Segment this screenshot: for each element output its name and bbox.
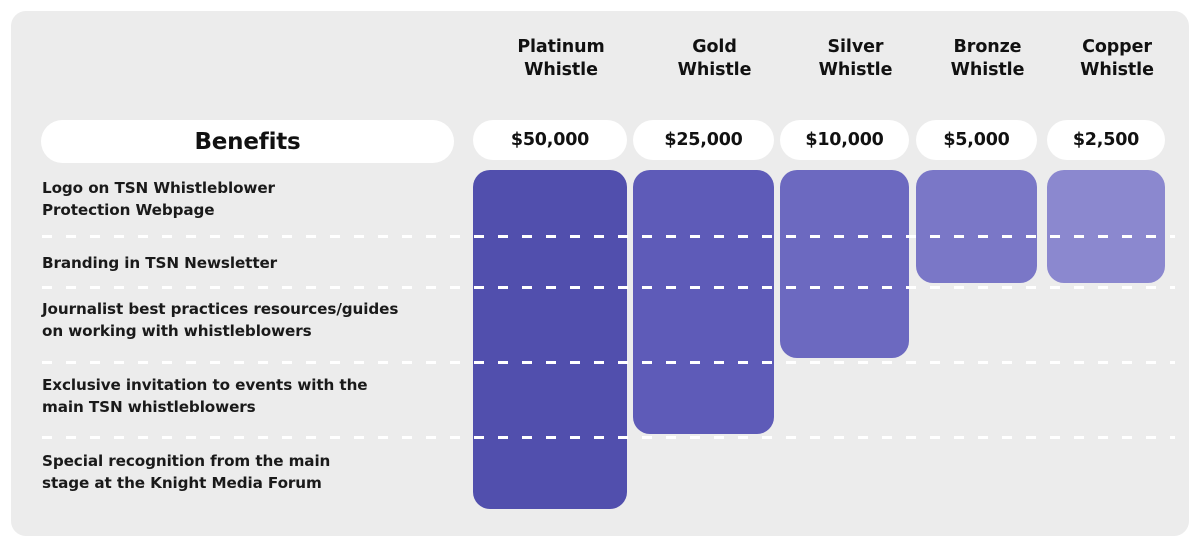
tier-header-platinum-line2: Whistle bbox=[484, 59, 638, 82]
tier-header-bronze: Bronze Whistle bbox=[927, 36, 1048, 82]
tier-header-bronze-line1: Bronze bbox=[954, 37, 1022, 57]
price-pill-platinum: $50,000 bbox=[473, 120, 627, 160]
price-pill-bronze: $5,000 bbox=[916, 120, 1037, 160]
benefit-row-4-line1: Exclusive invitation to events with the bbox=[42, 376, 368, 394]
tier-header-silver-line2: Whistle bbox=[791, 59, 920, 82]
tier-bar-silver bbox=[780, 170, 909, 358]
sponsorship-tier-panel: Platinum Whistle Gold Whistle Silver Whi… bbox=[11, 11, 1189, 536]
tier-header-copper-line2: Whistle bbox=[1058, 59, 1176, 82]
row-separator-4 bbox=[42, 436, 1175, 439]
benefit-row-5-line1: Special recognition from the main bbox=[42, 452, 330, 470]
tier-header-gold-line2: Whistle bbox=[644, 59, 785, 82]
benefit-row-4-line2: main TSN whistleblowers bbox=[42, 397, 462, 419]
price-value-gold: $25,000 bbox=[664, 130, 742, 150]
price-value-bronze: $5,000 bbox=[943, 130, 1009, 150]
benefit-row-5-line2: stage at the Knight Media Forum bbox=[42, 473, 462, 495]
row-separator-1 bbox=[42, 235, 1175, 238]
tier-bar-bronze bbox=[916, 170, 1037, 283]
tier-header-silver-line1: Silver bbox=[828, 37, 884, 57]
tier-bar-copper bbox=[1047, 170, 1165, 283]
benefit-row-3: Journalist best practices resources/guid… bbox=[42, 299, 477, 342]
row-separator-2 bbox=[42, 286, 1175, 289]
benefit-row-1-line2: Protection Webpage bbox=[42, 200, 462, 222]
price-pill-silver: $10,000 bbox=[780, 120, 909, 160]
price-pill-gold: $25,000 bbox=[633, 120, 774, 160]
benefit-row-4: Exclusive invitation to events with the … bbox=[42, 375, 462, 418]
tier-header-gold: Gold Whistle bbox=[644, 36, 785, 82]
benefit-row-1: Logo on TSN Whistleblower Protection Web… bbox=[42, 178, 462, 221]
price-value-platinum: $50,000 bbox=[511, 130, 589, 150]
tier-bar-platinum bbox=[473, 170, 627, 509]
benefit-row-3-line1: Journalist best practices resources/guid… bbox=[42, 300, 398, 318]
tier-header-bronze-line2: Whistle bbox=[927, 59, 1048, 82]
benefit-row-5: Special recognition from the main stage … bbox=[42, 451, 462, 494]
price-pill-copper: $2,500 bbox=[1047, 120, 1165, 160]
row-separator-3 bbox=[42, 361, 1175, 364]
price-value-copper: $2,500 bbox=[1073, 130, 1139, 150]
tier-header-gold-line1: Gold bbox=[692, 37, 737, 57]
tier-header-row: Platinum Whistle Gold Whistle Silver Whi… bbox=[11, 11, 1189, 111]
benefits-header-label: Benefits bbox=[194, 129, 300, 155]
tier-header-copper-line1: Copper bbox=[1082, 37, 1152, 57]
tier-header-platinum-line1: Platinum bbox=[517, 37, 604, 57]
price-value-silver: $10,000 bbox=[805, 130, 883, 150]
benefit-row-3-line2: on working with whistleblowers bbox=[42, 321, 477, 343]
tier-header-platinum: Platinum Whistle bbox=[484, 36, 638, 82]
tier-header-silver: Silver Whistle bbox=[791, 36, 920, 82]
tier-bar-gold bbox=[633, 170, 774, 434]
benefit-row-2: Branding in TSN Newsletter bbox=[42, 253, 462, 275]
benefit-row-2-line1: Branding in TSN Newsletter bbox=[42, 254, 277, 272]
benefits-header-pill: Benefits bbox=[41, 120, 454, 163]
benefit-row-1-line1: Logo on TSN Whistleblower bbox=[42, 179, 275, 197]
tier-header-copper: Copper Whistle bbox=[1058, 36, 1176, 82]
